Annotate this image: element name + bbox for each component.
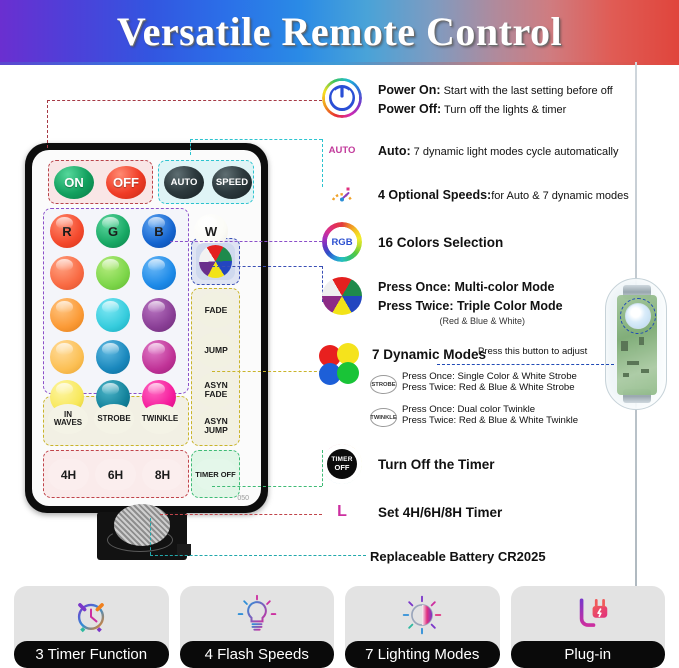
remote-button-off[interactable]: OFF xyxy=(106,166,146,199)
annotation-power: Power On: Start with the last setting be… xyxy=(322,78,613,118)
led-capsule xyxy=(605,278,667,410)
remote-button-jump[interactable]: JUMP xyxy=(196,332,236,368)
annotation-colors-text: 16 Colors Selection xyxy=(378,222,503,252)
alarm-clock-icon xyxy=(14,590,169,640)
connector-timeroff-horizontal xyxy=(212,486,322,487)
color-button-3-3[interactable] xyxy=(142,298,176,332)
page-header: Versatile Remote Control xyxy=(0,0,679,62)
remote-button-speed[interactable]: SPEED xyxy=(212,166,252,199)
color-button-2-1[interactable] xyxy=(50,256,84,290)
power-plug-icon xyxy=(511,590,666,640)
remote-control-body: ON OFF AUTO SPEED R G B W xyxy=(25,143,268,513)
remote-face: ON OFF AUTO SPEED R G B W xyxy=(32,150,261,506)
annotation-multicolor-text: Press Once: Multi-color Mode Press Twice… xyxy=(378,275,563,326)
led-highlight-ring xyxy=(620,298,656,334)
annotation-timer-set-text: Set 4H/6H/8H Timer xyxy=(378,492,502,522)
color-button-b[interactable]: B xyxy=(142,214,176,248)
color-button-2-3[interactable] xyxy=(142,256,176,290)
remote-button-6h[interactable]: 6H xyxy=(95,459,136,490)
annotation-power-text: Power On: Start with the last setting be… xyxy=(378,78,613,118)
annotation-twinkle-text: Press Once: Dual color Twinkle Press Twi… xyxy=(402,404,578,426)
remote-button-twinkle[interactable]: TWINKLE xyxy=(140,404,180,434)
battery-arc xyxy=(107,528,173,552)
color-button-4-3[interactable] xyxy=(142,340,176,374)
timer-off-icon: TIMER OFF xyxy=(322,444,362,484)
timer-clock-icon: L xyxy=(322,492,362,532)
feature-card-flash[interactable]: 4 Flash Speeds xyxy=(180,586,335,668)
color-button-2-2[interactable] xyxy=(96,256,130,290)
strobe-pill-icon: STROBE xyxy=(370,375,397,394)
rgb-wheel-icon: RGB xyxy=(322,222,362,262)
brightness-sun-icon xyxy=(345,590,500,640)
color-button-4-1[interactable] xyxy=(50,340,84,374)
connector-auto-horizontal xyxy=(190,139,322,140)
timer-clock-label: L xyxy=(322,492,362,532)
connector-auto-vertical xyxy=(190,139,191,155)
auto-icon-label: AUTO xyxy=(322,130,362,170)
feature-card-plugin-label: Plug-in xyxy=(511,641,666,668)
annotation-colors: RGB 16 Colors Selection xyxy=(322,222,503,262)
color-button-r[interactable]: R xyxy=(50,214,84,248)
twinkle-pill-icon: TWINKLE xyxy=(370,408,397,427)
timer-off-core: TIMER OFF xyxy=(327,449,357,479)
remote-button-4h[interactable]: 4H xyxy=(48,459,89,490)
remote-button-in-waves[interactable]: IN WAVES xyxy=(48,404,88,434)
connector-battery-vertical xyxy=(150,518,151,555)
connector-colors-horizontal xyxy=(170,241,322,242)
annotation-auto-text: Auto: 7 dynamic light modes cycle automa… xyxy=(378,130,619,160)
color-button-3-1[interactable] xyxy=(50,298,84,332)
feature-card-timer-label: 3 Timer Function xyxy=(14,641,169,668)
battery-holder xyxy=(97,512,187,560)
connector-power-vertical xyxy=(47,100,48,148)
remote-button-8h[interactable]: 8H xyxy=(142,459,183,490)
color-button-4-2[interactable] xyxy=(96,340,130,374)
annotation-speeds: 4 Optional Speeds:for Auto & 7 dynamic m… xyxy=(322,174,629,214)
feature-card-flash-label: 4 Flash Speeds xyxy=(180,641,335,668)
connector-dynamic-horizontal xyxy=(212,371,322,372)
feature-card-timer[interactable]: 3 Timer Function xyxy=(14,586,169,668)
color-button-g[interactable]: G xyxy=(96,214,130,248)
connector-timerset-horizontal xyxy=(160,514,322,515)
annotation-speeds-text: 4 Optional Speeds:for Auto & 7 dynamic m… xyxy=(378,174,629,204)
auto-icon: AUTO xyxy=(322,130,362,170)
connector-multicolor-horizontal xyxy=(212,266,322,267)
annotation-multicolor-sub: (Red & Blue & White) xyxy=(378,316,563,326)
light-bulb-icon xyxy=(180,590,335,640)
battery-note: Replaceable Battery CR2025 xyxy=(370,548,546,566)
annotation-dynamic-callout: Press this button to adjust xyxy=(478,346,587,357)
page-title: Versatile Remote Control xyxy=(117,8,562,55)
annotation-timer-off-text: Turn Off the Timer xyxy=(378,444,495,474)
color-pie-icon xyxy=(322,275,362,315)
feature-card-modes-label: 7 Lighting Modes xyxy=(345,641,500,668)
remote-button-asyn-jump[interactable]: ASYN JUMP xyxy=(196,408,236,444)
annotation-strobe-text: Press Once: Single Color & White Strobe … xyxy=(402,371,577,393)
header-underline xyxy=(0,62,679,65)
feature-card-modes[interactable]: 7 Lighting Modes xyxy=(345,586,500,668)
annotation-dynamic-text: 7 Dynamic Modes xyxy=(372,343,486,364)
remote-button-auto[interactable]: AUTO xyxy=(164,166,204,199)
remote-model-code: 050 xyxy=(237,495,249,502)
annotation-timer-off: TIMER OFF Turn Off the Timer xyxy=(322,444,495,484)
power-icon xyxy=(322,78,362,118)
color-button-3-2[interactable] xyxy=(96,298,130,332)
remote-button-fade[interactable]: FADE xyxy=(196,292,236,328)
four-circles-icon xyxy=(318,343,364,389)
connector-battery-horizontal xyxy=(150,555,366,556)
rgb-icon-label: RGB xyxy=(322,222,362,262)
feature-card-plugin[interactable]: Plug-in xyxy=(511,586,666,668)
connector-power-horizontal xyxy=(47,100,322,101)
annotation-timer-set: L Set 4H/6H/8H Timer xyxy=(322,492,502,532)
annotation-auto: AUTO Auto: 7 dynamic light modes cycle a… xyxy=(322,130,619,170)
remote-button-multicolor[interactable] xyxy=(196,243,235,280)
remote-button-asyn-fade[interactable]: ASYN FADE xyxy=(196,372,236,408)
infographic-root: Versatile Remote Control ON xyxy=(0,0,679,668)
remote-button-on[interactable]: ON xyxy=(54,166,94,199)
speed-gauge-icon xyxy=(322,174,362,214)
annotation-multicolor: Press Once: Multi-color Mode Press Twice… xyxy=(322,275,563,326)
remote-button-strobe[interactable]: STROBE xyxy=(94,404,134,434)
feature-cards: 3 Timer Function 4 Flash Speeds xyxy=(0,586,679,668)
